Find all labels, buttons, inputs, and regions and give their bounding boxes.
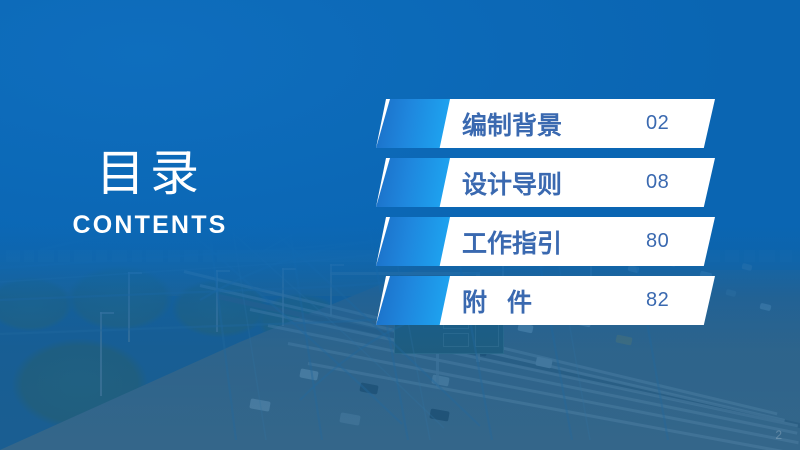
toc-item-03[interactable]: 03 工作指引 80 bbox=[376, 217, 721, 266]
page-title-en: CONTENTS bbox=[0, 211, 300, 240]
toc-page-number: 02 bbox=[646, 99, 669, 148]
toc-item-04[interactable]: 04 附件 82 bbox=[376, 276, 721, 325]
toc-page-number: 08 bbox=[646, 158, 669, 207]
presentation-slide: 目录 CONTENTS 01 编制背景 02 02 设计导则 08 03 工作指… bbox=[0, 0, 800, 450]
table-of-contents: 01 编制背景 02 02 设计导则 08 03 工作指引 80 04 附件 8… bbox=[376, 99, 721, 325]
toc-label[interactable]: 设计导则 bbox=[462, 158, 562, 207]
toc-label[interactable]: 附件 bbox=[462, 276, 552, 325]
toc-label[interactable]: 工作指引 bbox=[462, 217, 562, 266]
toc-item-01[interactable]: 01 编制背景 02 bbox=[376, 99, 721, 148]
toc-label[interactable]: 编制背景 bbox=[462, 99, 562, 148]
slide-title-group: 目录 CONTENTS bbox=[0, 148, 300, 240]
page-title-cn: 目录 bbox=[0, 148, 300, 199]
toc-page-number: 82 bbox=[646, 276, 669, 325]
slide-page-number: 2 bbox=[775, 428, 782, 442]
toc-page-number: 80 bbox=[646, 217, 669, 266]
toc-item-02[interactable]: 02 设计导则 08 bbox=[376, 158, 721, 207]
